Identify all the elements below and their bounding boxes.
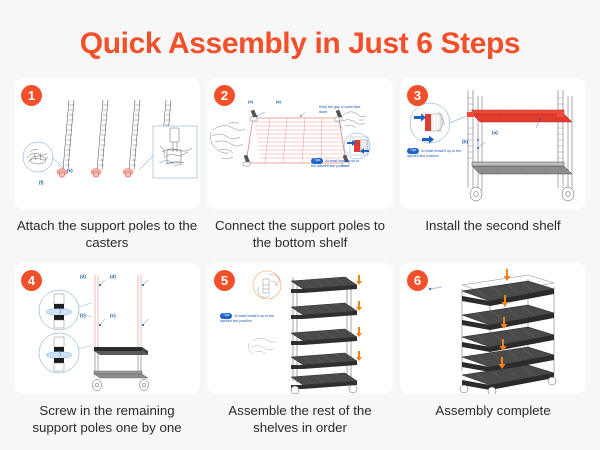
step-illustration-1 — [14, 78, 200, 209]
step2-tip: TipsAt least install it up to the dashed… — [311, 158, 363, 169]
step-card-1[interactable]: 1 — [14, 78, 200, 209]
step-badge-6: 6 — [407, 270, 428, 291]
step-cell-6: 6 — [400, 263, 586, 440]
step-caption-3: Install the second shelf — [400, 217, 586, 234]
page-title: Quick Assembly in Just 6 Steps — [0, 27, 600, 61]
step-badge-5: 5 — [214, 270, 235, 291]
step4-label-c1: (c) — [80, 313, 86, 318]
step-card-4[interactable]: 4 — [14, 263, 200, 394]
step4-label-d2: (d) — [110, 274, 116, 279]
step3-label-b: (b) — [462, 139, 468, 144]
step-illustration-6 — [400, 263, 586, 394]
step-caption-4: Screw in the remaining support poles one… — [14, 402, 200, 436]
step5-tip: TipsAt least install it up to the dashed… — [220, 313, 275, 324]
step-card-6[interactable]: 6 — [400, 263, 586, 394]
step4-label-d1: (d) — [80, 274, 86, 279]
step-cell-2: 2 — [207, 78, 393, 255]
step-badge-2: 2 — [214, 85, 235, 106]
step-card-5[interactable]: 5 — [207, 263, 393, 394]
steps-grid: 1 — [14, 78, 586, 440]
step-illustration-5 — [207, 263, 393, 394]
step-badge-4: 4 — [21, 270, 42, 291]
tips-pill-icon: Tips — [311, 158, 323, 164]
step-badge-3: 3 — [407, 85, 428, 106]
step-illustration-3 — [400, 78, 586, 209]
step1-label-f: (f) — [39, 180, 44, 185]
step-illustration-2 — [207, 78, 393, 209]
step-cell-3: 3 — [400, 78, 586, 255]
step-card-3[interactable]: 3 — [400, 78, 586, 209]
step-caption-1: Attach the support poles to the casters — [14, 217, 200, 251]
step2-note-collar: Keep the gap in collar face down — [319, 105, 361, 115]
tips-pill-icon: Tips — [407, 148, 419, 154]
step2-label-a: (a) — [276, 99, 281, 104]
step-cell-5: 5 — [207, 263, 393, 440]
step-badge-1: 1 — [21, 85, 42, 106]
step-card-2[interactable]: 2 — [207, 78, 393, 209]
step2-label-b: (b) — [248, 99, 253, 104]
step3-tip: TipsAt least install it up to the dashed… — [407, 148, 463, 159]
step-illustration-4 — [14, 263, 200, 394]
infographic-page: Quick Assembly in Just 6 Steps 1 — [0, 0, 600, 450]
step-caption-2: Connect the support poles to the bottom … — [207, 217, 393, 251]
step-caption-5: Assemble the rest of the shelves in orde… — [207, 402, 393, 436]
step-cell-4: 4 — [14, 263, 200, 440]
step-cell-1: 1 — [14, 78, 200, 255]
step4-label-c2: (c) — [110, 313, 116, 318]
tips-pill-icon: Tips — [220, 313, 232, 319]
step3-label-a: (a) — [492, 130, 498, 135]
step-caption-6: Assembly complete — [400, 402, 586, 419]
step1-label-e: (e) — [67, 168, 73, 173]
